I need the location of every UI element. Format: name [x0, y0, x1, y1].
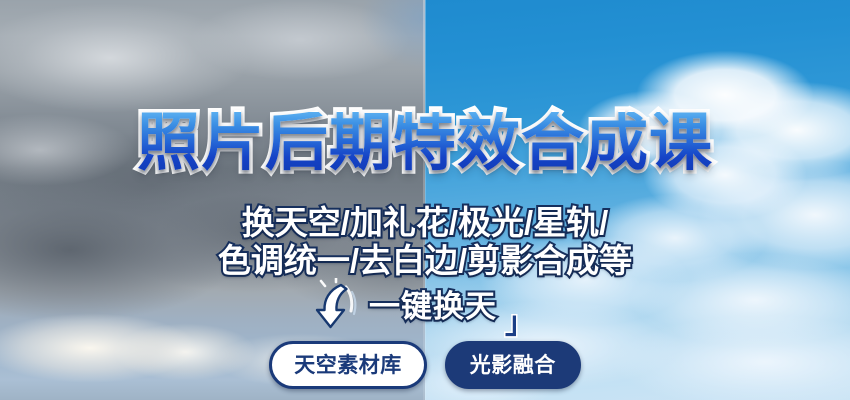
main-title-text: 照片后期特效合成课 [137, 112, 713, 175]
promo-banner: 照片后期特效合成课 照片后期特效合成课 换天空/加礼花/极光/星轨/ 色调统一/… [0, 0, 850, 400]
curved-down-arrow-icon [315, 278, 361, 330]
subtitle-line-2: 色调统一/去白边/剪影合成等 [0, 234, 850, 282]
corner-bracket-icon: 」 [505, 298, 535, 342]
one-click-label: 一键换天 [369, 281, 497, 326]
banner-content: 照片后期特效合成课 照片后期特效合成课 换天空/加礼花/极光/星轨/ 色调统一/… [0, 0, 850, 400]
badge-row: 天空素材库 光影融合 [0, 341, 850, 389]
one-click-row: 一键换天 」 [0, 276, 850, 330]
badge-light-shadow-blend[interactable]: 光影融合 [445, 341, 581, 389]
main-title: 照片后期特效合成课 照片后期特效合成课 [0, 112, 850, 175]
badge-sky-asset-library[interactable]: 天空素材库 [269, 341, 427, 389]
